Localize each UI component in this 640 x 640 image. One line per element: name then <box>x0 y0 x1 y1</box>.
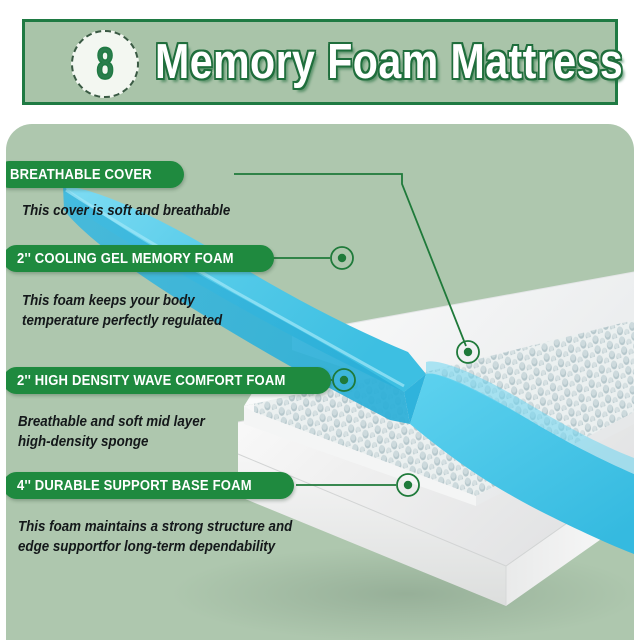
callout-label-wave-comfort-foam: 2'' HIGH DENSITY WAVE COMFORT FOAM <box>17 373 286 389</box>
content-panel: BREATHABLE COVER This cover is soft and … <box>6 124 634 640</box>
page-title: Memory Foam Mattress <box>155 34 623 90</box>
callout-description-cooling-gel: This foam keeps your body temperature pe… <box>22 291 222 331</box>
callout-pill-wave-comfort-foam[interactable]: 2'' HIGH DENSITY WAVE COMFORT FOAM <box>6 367 331 394</box>
infographic-root: 8 Memory Foam Mattress <box>0 0 640 640</box>
callout-description-wave-comfort-foam: Breathable and soft mid layer high-densi… <box>18 412 205 452</box>
callout-label-support-base-foam: 4'' DURABLE SUPPORT BASE FOAM <box>17 478 252 494</box>
step-number-badge: 8 <box>71 30 139 98</box>
header-inner: 8 Memory Foam Mattress <box>25 22 615 102</box>
callout-description-breathable-cover: This cover is soft and breathable <box>22 201 230 221</box>
callout-pill-support-base-foam[interactable]: 4'' DURABLE SUPPORT BASE FOAM <box>6 472 294 499</box>
header-band: 8 Memory Foam Mattress <box>22 19 618 105</box>
callout-description-support-base-foam: This foam maintains a strong structure a… <box>18 517 292 557</box>
step-number-label: 8 <box>97 42 114 87</box>
callout-pill-cooling-gel[interactable]: 2'' COOLING GEL MEMORY FOAM <box>6 245 274 272</box>
callout-pill-breathable-cover[interactable]: BREATHABLE COVER <box>6 161 184 188</box>
callout-label-breathable-cover: BREATHABLE COVER <box>10 167 152 183</box>
callout-label-cooling-gel: 2'' COOLING GEL MEMORY FOAM <box>17 251 234 267</box>
